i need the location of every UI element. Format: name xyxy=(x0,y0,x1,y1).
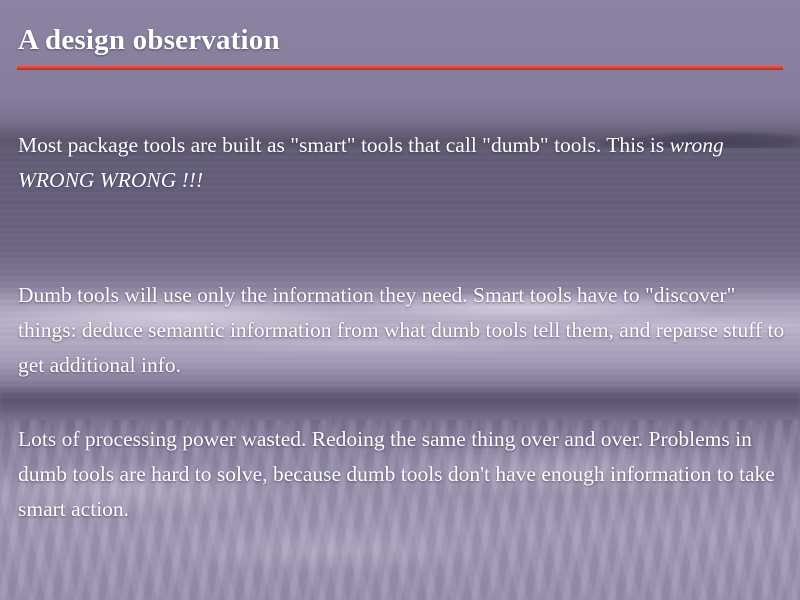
paragraph-3-run-1: Lots of processing power wasted. Redoing… xyxy=(18,427,775,521)
body-paragraph-3: Lots of processing power wasted. Redoing… xyxy=(18,422,786,527)
presentation-slide: A design observation Most package tools … xyxy=(0,0,800,600)
slide-content: A design observation Most package tools … xyxy=(0,0,800,600)
paragraph-2-run-1: Dumb tools will use only the information… xyxy=(18,283,784,377)
paragraph-1-run-1: Most package tools are built as "smart" … xyxy=(18,133,670,157)
body-paragraph-1: Most package tools are built as "smart" … xyxy=(18,128,786,198)
title-underline-rule xyxy=(17,65,783,70)
body-paragraph-2: Dumb tools will use only the information… xyxy=(18,278,786,383)
slide-title: A design observation xyxy=(18,24,280,57)
